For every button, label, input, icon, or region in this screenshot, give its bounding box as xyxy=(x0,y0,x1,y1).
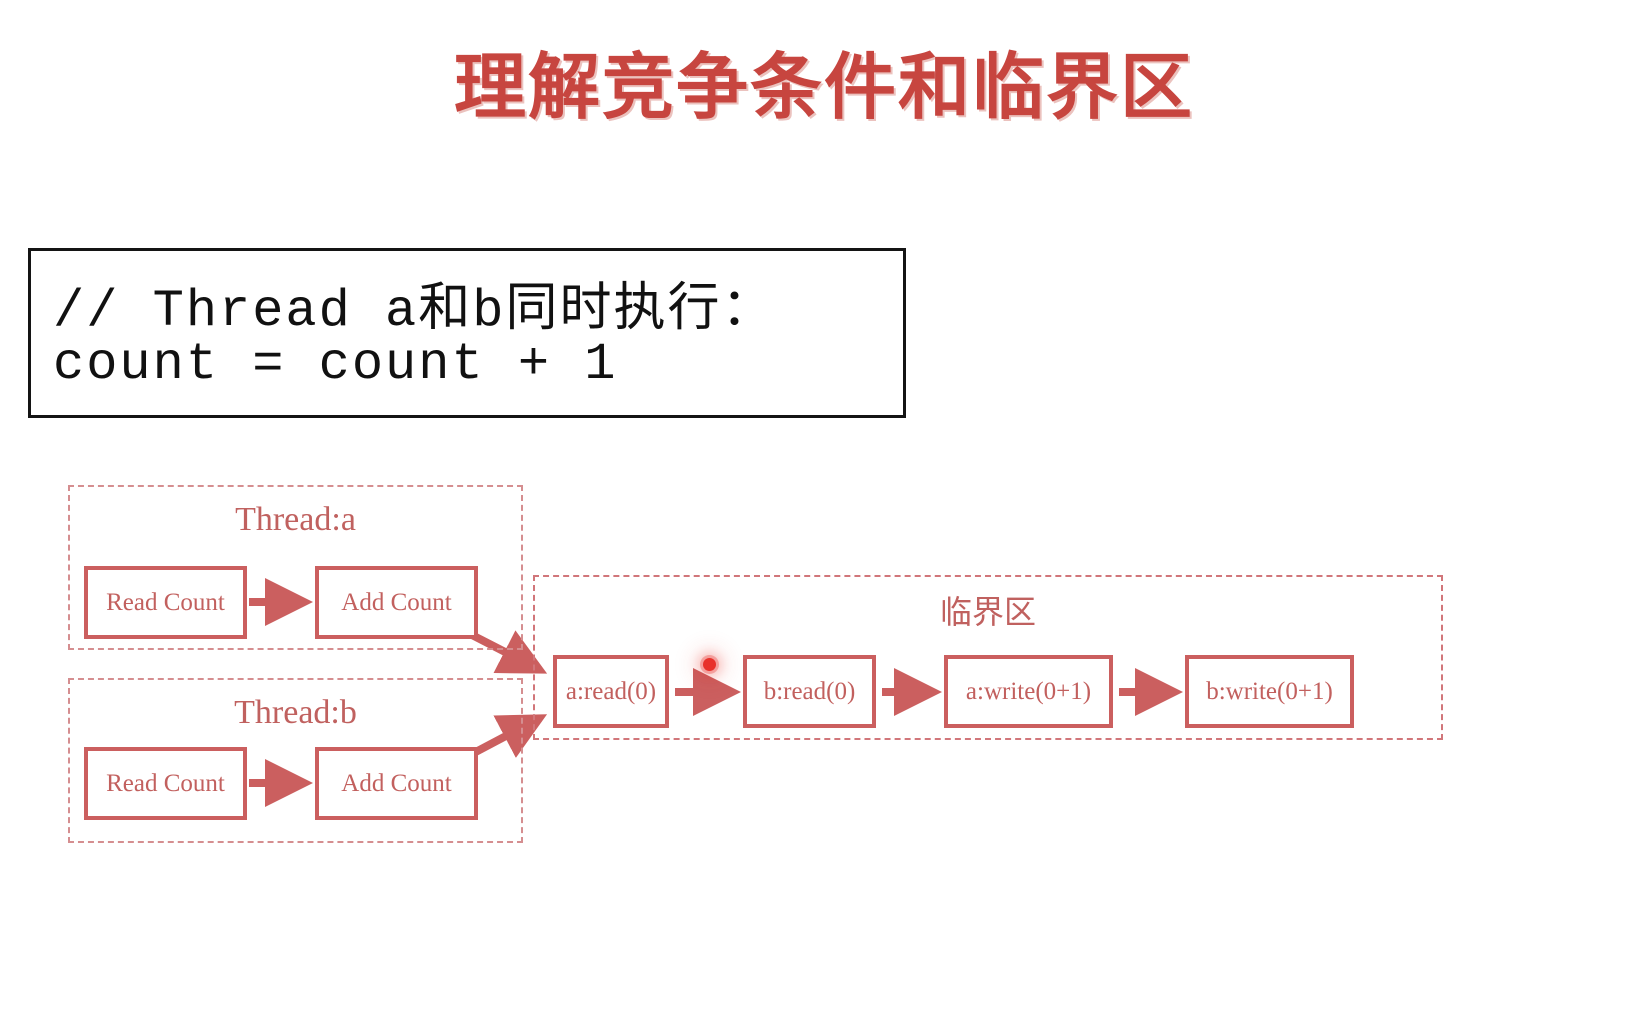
thread-b-step-add-count[interactable]: Add Count xyxy=(315,747,478,820)
thread-b-step-read-count[interactable]: Read Count xyxy=(84,747,247,820)
critical-step-b-read[interactable]: b:read(0) xyxy=(743,655,876,728)
code-line-comment: // Thread a和b同时执行： xyxy=(53,265,775,341)
code-line-statement: count = count + 1 xyxy=(53,335,618,394)
page-title: 理解竞争条件和临界区 xyxy=(0,28,1648,133)
thread-a-step-read-count[interactable]: Read Count xyxy=(84,566,247,639)
thread-b-label: Thread:b xyxy=(70,694,521,732)
critical-step-a-read[interactable]: a:read(0) xyxy=(553,655,669,728)
thread-a-step-add-count[interactable]: Add Count xyxy=(315,566,478,639)
thread-a-label: Thread:a xyxy=(70,501,521,539)
click-indicator-dot xyxy=(703,658,716,671)
code-block: // Thread a和b同时执行： count = count + 1 xyxy=(28,248,906,418)
critical-step-b-write[interactable]: b:write(0+1) xyxy=(1185,655,1354,728)
critical-step-a-write[interactable]: a:write(0+1) xyxy=(944,655,1113,728)
critical-section-label: 临界区 xyxy=(535,587,1441,633)
